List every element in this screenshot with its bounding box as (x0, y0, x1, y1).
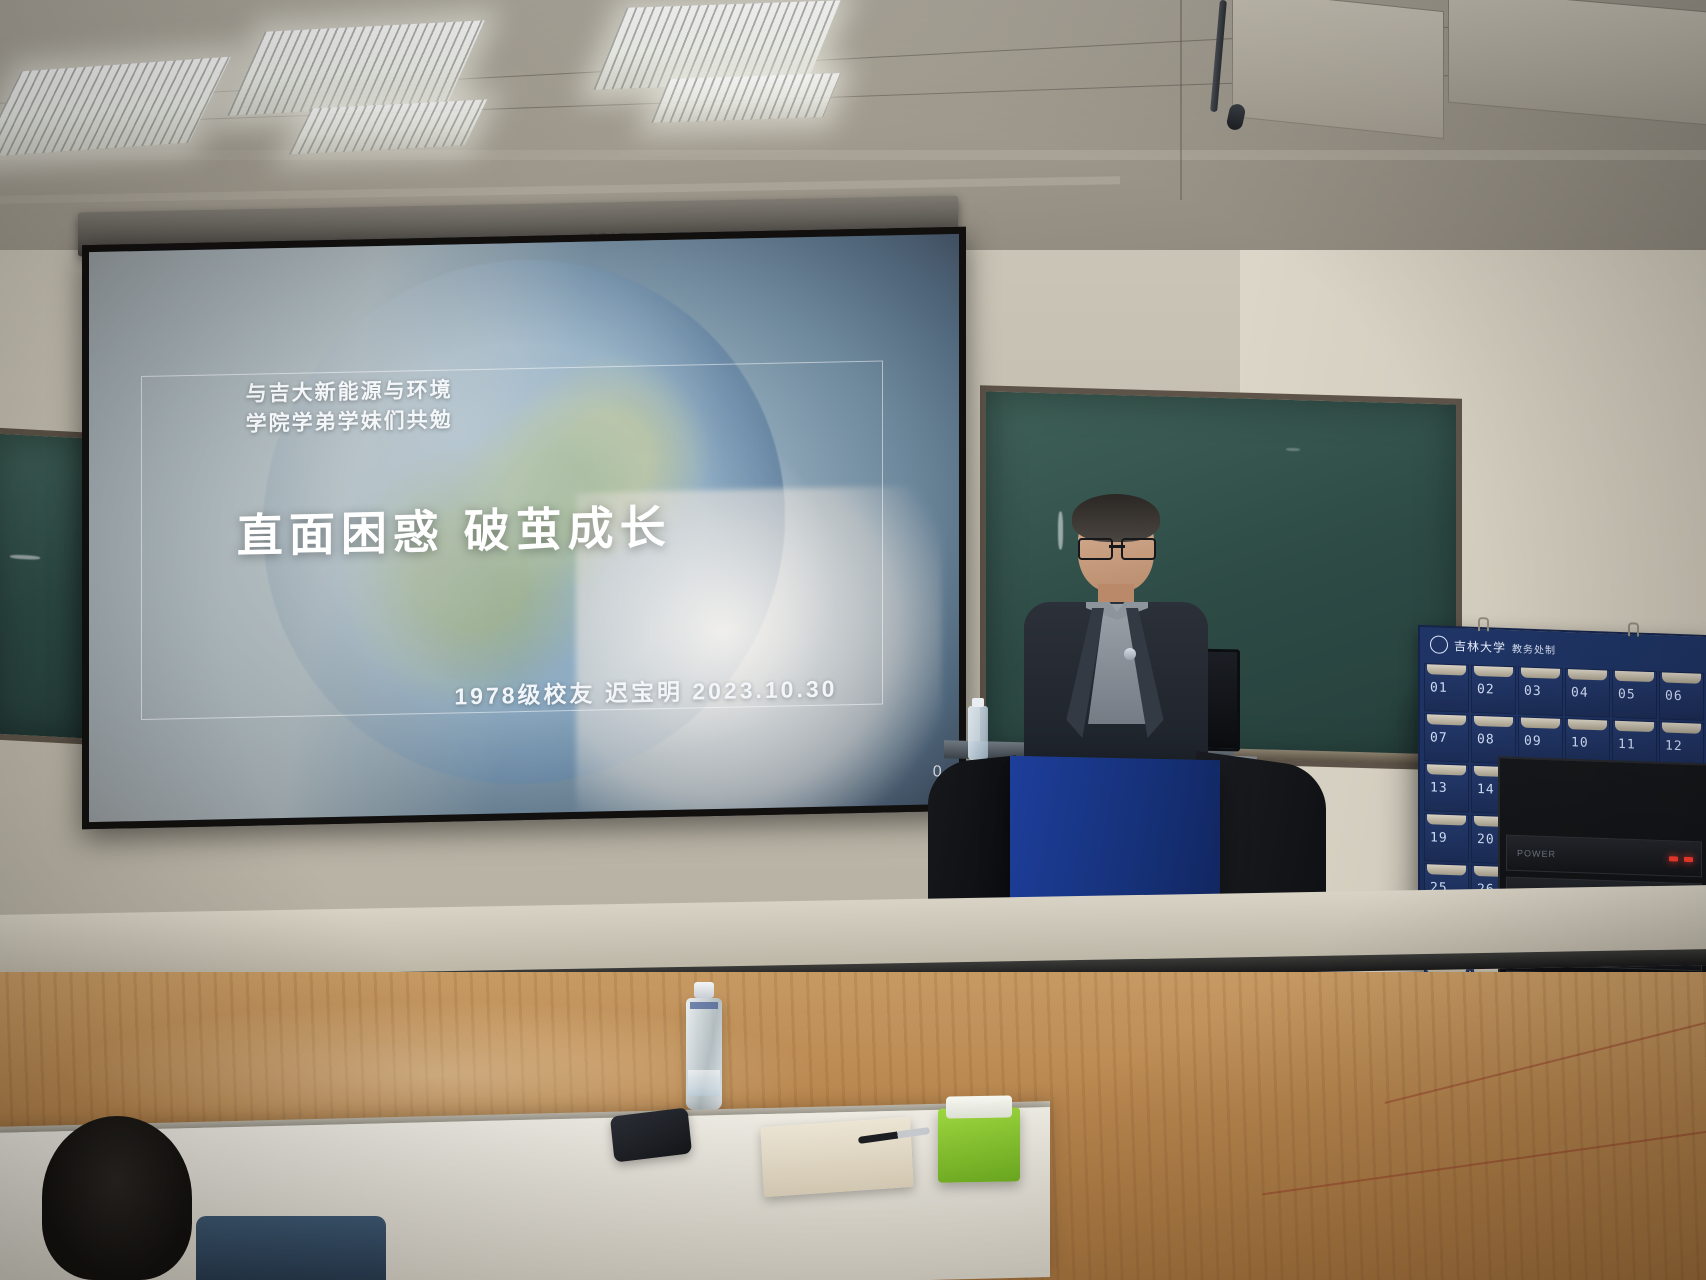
status-led-red (1669, 856, 1678, 861)
key-pocket (1615, 671, 1654, 682)
key-slot[interactable]: 02 (1471, 665, 1516, 715)
ceiling-mic-boom (1210, 0, 1227, 112)
key-slot[interactable]: 03 (1518, 666, 1563, 716)
projection-screen: 与吉大新能源与环境 学院学弟学妹们共勉 直面困惑 破茧成长 1978级校友 迟宝… (82, 227, 966, 830)
ceiling-mic (1225, 103, 1246, 132)
rack-unit-label: POWER (1517, 848, 1556, 859)
key-slot-number: 20 (1477, 832, 1495, 848)
key-pocket (1615, 721, 1654, 732)
speaker-hair (1072, 494, 1160, 542)
notebook (760, 1117, 913, 1197)
water-bottle (686, 998, 722, 1110)
key-pocket (1662, 672, 1701, 683)
slide-subtitle-line2: 学院学弟学妹们共勉 (246, 405, 453, 439)
key-pocket (1427, 814, 1466, 825)
key-slot-number: 08 (1477, 732, 1495, 748)
key-slot-number: 07 (1430, 730, 1448, 746)
key-slot-number: 12 (1665, 739, 1683, 755)
key-pocket (1521, 667, 1560, 678)
slide-title: 直面困惑 破茧成长 (237, 491, 672, 566)
speaker-person (1020, 500, 1210, 770)
key-slot[interactable]: 19 (1424, 813, 1469, 863)
smartphone[interactable] (610, 1107, 692, 1162)
lecture-hall-photo: 鑫恒方正 与吉大新能源与环境 学院学弟学妹们共勉 直面困惑 破茧成长 1978级… (0, 0, 1706, 1280)
ceiling-light (289, 99, 487, 154)
university-seal-icon (1430, 635, 1448, 654)
projected-slide: 与吉大新能源与环境 学院学弟学妹们共勉 直面困惑 破茧成长 1978级校友 迟宝… (89, 234, 959, 822)
audience-chair (196, 1216, 386, 1280)
slide-subtitle: 与吉大新能源与环境 学院学弟学妹们共勉 (246, 376, 453, 440)
rack-unit[interactable]: POWER (1506, 835, 1702, 878)
key-pocket (1427, 664, 1466, 675)
key-board-subtitle: 教务处制 (1512, 640, 1556, 657)
key-slot[interactable]: 06 (1659, 671, 1704, 721)
lapel-badge (1124, 648, 1136, 660)
key-slot-number: 19 (1430, 830, 1448, 846)
eyeglasses-icon (1078, 538, 1156, 556)
key-pocket (1568, 669, 1607, 680)
key-slot-number: 11 (1618, 737, 1636, 753)
key-slot-number: 09 (1524, 734, 1542, 750)
key-pocket (1427, 864, 1466, 875)
key-slot-number: 04 (1571, 685, 1589, 701)
key-board-title: 吉林大学 (1454, 637, 1506, 656)
key-slot-number: 06 (1665, 689, 1683, 705)
key-slot[interactable]: 05 (1612, 670, 1657, 720)
key-slot[interactable]: 01 (1424, 663, 1469, 713)
status-led-red (1684, 856, 1693, 861)
key-slot[interactable]: 04 (1565, 668, 1610, 718)
slide-subtitle-line1: 与吉大新能源与环境 (246, 376, 453, 410)
key-pocket (1662, 722, 1701, 733)
key-slot-number: 02 (1477, 682, 1495, 698)
key-pocket (1521, 717, 1560, 728)
key-slot-number: 01 (1430, 680, 1448, 696)
key-slot-number: 10 (1571, 735, 1589, 751)
key-pocket (1427, 764, 1466, 775)
key-slot-number: 14 (1477, 782, 1495, 798)
key-pocket (1427, 714, 1466, 725)
key-pocket (1474, 666, 1513, 677)
key-slot[interactable]: 13 (1424, 763, 1469, 813)
chalkboard-left (0, 427, 94, 745)
console-water-bottle (968, 706, 988, 760)
key-slot[interactable]: 07 (1424, 713, 1469, 763)
key-slot-number: 13 (1430, 780, 1448, 796)
tissue-box (938, 1107, 1020, 1182)
ceiling-light (0, 57, 231, 158)
key-pocket (1474, 716, 1513, 727)
key-slot-number: 03 (1524, 684, 1542, 700)
key-pocket (1568, 719, 1607, 730)
ceiling-light (651, 73, 841, 123)
key-slot-number: 05 (1618, 687, 1636, 703)
audience-head (42, 1116, 192, 1280)
